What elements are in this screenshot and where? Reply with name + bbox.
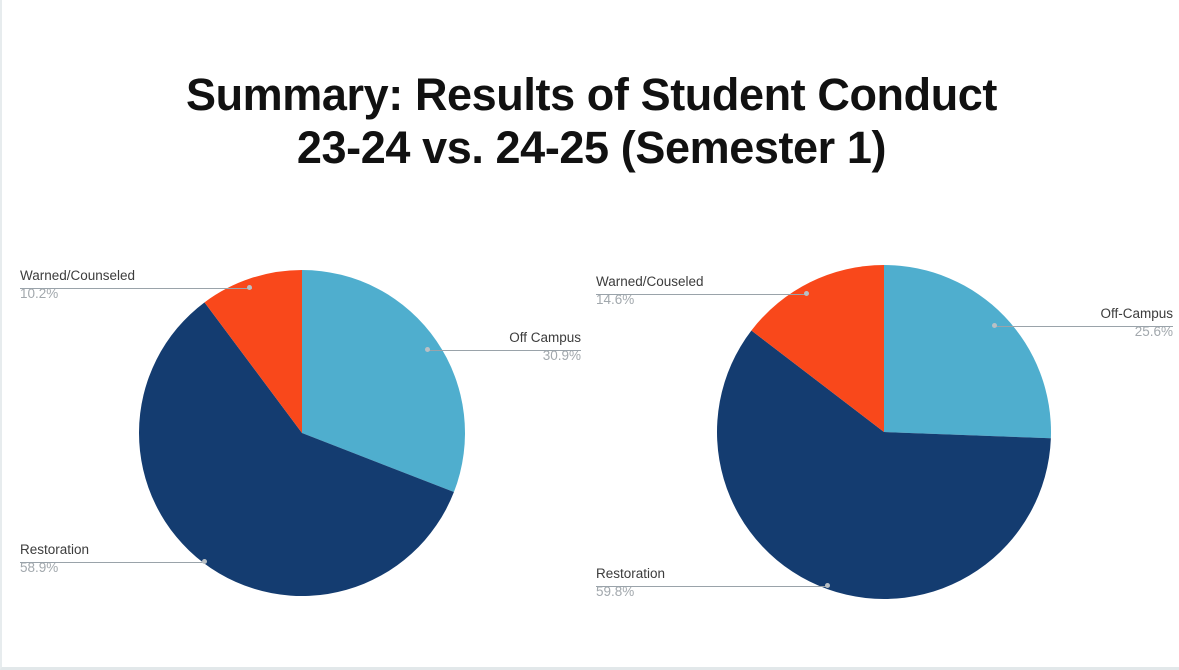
leader-line-off-campus-left [426,350,581,351]
callout-label: Warned/Couseled [596,274,704,290]
leader-line-restoration-left [20,562,206,563]
callout-label: Off Campus [509,330,581,346]
callout-off-campus-right: Off-Campus 25.6% [1100,306,1173,341]
callout-label: Warned/Counseled [20,268,135,284]
pie-chart-24-25: Warned/Couseled 14.6% Off-Campus 25.6% R… [592,0,1179,670]
callout-restoration-left: Restoration 58.9% [20,542,89,577]
callout-warned-counseled-right: Warned/Couseled 14.6% [596,274,704,309]
leader-dot-off-campus-left [425,347,430,352]
leader-line-off-campus-right [994,326,1173,327]
leader-line-restoration-right [596,586,828,587]
callout-off-campus-left: Off Campus 30.9% [509,330,581,365]
pie-chart-23-24-svg [2,0,591,670]
leader-dot-off-campus-right [992,323,997,328]
pie-chart-24-25-svg [592,0,1179,670]
leader-dot-warned-counseled-left [247,285,252,290]
callout-label: Restoration [596,566,665,582]
leader-line-warned-counseled-left [20,288,252,289]
pie-chart-23-24: Warned/Counseled 10.2% Off Campus 30.9% … [2,0,591,670]
callout-label: Restoration [20,542,89,558]
callout-restoration-right: Restoration 59.8% [596,566,665,601]
pie-slice-off-campus[interactable] [884,265,1051,438]
callout-label: Off-Campus [1100,306,1173,322]
callout-warned-counseled-left: Warned/Counseled 10.2% [20,268,135,303]
leader-dot-restoration-right [825,583,830,588]
leader-line-warned-counseled-right [596,294,808,295]
leader-dot-warned-counseled-right [804,291,809,296]
slide-canvas: Summary: Results of Student Conduct 23-2… [0,0,1179,670]
leader-dot-restoration-left [202,559,207,564]
